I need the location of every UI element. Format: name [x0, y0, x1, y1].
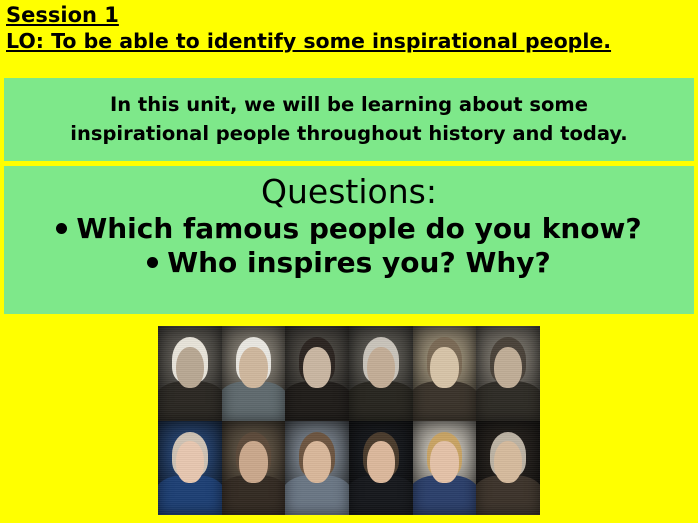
- intro-panel: In this unit, we will be learning about …: [4, 78, 694, 161]
- bullet-icon: [56, 223, 67, 234]
- portrait-face: [239, 347, 267, 389]
- portrait-william-shakespeare: [413, 326, 477, 421]
- bullet-icon: [147, 257, 158, 268]
- portrait-winston-churchill: [349, 326, 413, 421]
- question-item: Who inspires you? Why?: [147, 246, 551, 280]
- portrait-audrey-hepburn: [285, 326, 349, 421]
- session-title: Session 1: [6, 3, 692, 29]
- question-item: Which famous people do you know?: [56, 212, 641, 246]
- portrait-charles-darwin: [158, 326, 222, 421]
- portrait-face: [176, 347, 204, 389]
- portrait-face: [430, 347, 458, 389]
- intro-line-1: In this unit, we will be learning about …: [110, 91, 588, 119]
- portrait-face: [367, 347, 395, 389]
- portrait-face: [239, 441, 267, 483]
- questions-panel: Questions: Which famous people do you kn…: [4, 166, 694, 314]
- portrait-collage: [158, 326, 540, 515]
- slide: Session 1 LO: To be able to identify som…: [0, 0, 698, 523]
- learning-objective: LO: To be able to identify some inspirat…: [6, 29, 692, 54]
- portrait-face: [303, 347, 331, 389]
- portrait-charles-dickens: [222, 421, 286, 516]
- portrait-david-attenborough: [222, 326, 286, 421]
- portrait-david-beckham: [285, 421, 349, 516]
- portrait-face: [430, 441, 458, 483]
- header-block: Session 1 LO: To be able to identify som…: [0, 0, 698, 58]
- portrait-face: [176, 441, 204, 483]
- portrait-benedict-cumberbatch: [349, 421, 413, 516]
- portrait-face: [494, 347, 522, 389]
- question-text: Which famous people do you know?: [76, 212, 641, 246]
- portrait-face: [494, 441, 522, 483]
- portrait-princess-diana: [413, 421, 477, 516]
- portrait-face: [367, 441, 395, 483]
- portrait-rudyard-kipling: [476, 326, 540, 421]
- portrait-queen-elizabeth-ii: [158, 421, 222, 516]
- portrait-face: [303, 441, 331, 483]
- intro-line-2: inspirational people throughout history …: [70, 120, 627, 148]
- question-text: Who inspires you? Why?: [167, 246, 551, 280]
- questions-heading: Questions:: [261, 172, 437, 212]
- portrait-isaac-newton: [476, 421, 540, 516]
